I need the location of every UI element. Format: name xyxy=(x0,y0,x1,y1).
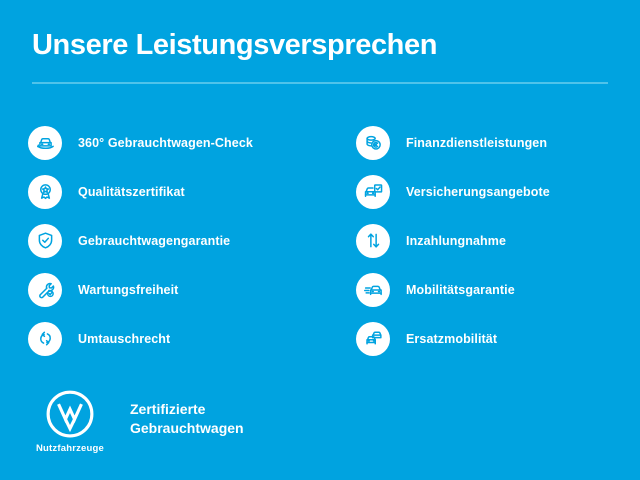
coins-euro-icon xyxy=(356,126,390,160)
feature-label: Ersatzmobilität xyxy=(406,332,497,346)
feature-item[interactable]: Finanzdienstleistungen xyxy=(356,118,640,167)
vw-logo-icon xyxy=(45,389,95,439)
feature-label: Mobilitätsgarantie xyxy=(406,283,515,297)
exchange-arrows-icon xyxy=(28,322,62,356)
feature-label: Wartungsfreiheit xyxy=(78,283,178,297)
features-grid: 360° Gebrauchtwagen-Check Qualitätszerti… xyxy=(0,118,640,363)
car-360-check-icon xyxy=(28,126,62,160)
title-divider xyxy=(32,82,608,84)
footer-headline-line1: Zertifizierte xyxy=(130,400,244,419)
shield-check-icon xyxy=(28,224,62,258)
footer: Nutzfahrzeuge Zertifizierte Gebrauchtwag… xyxy=(32,389,244,454)
vw-brand-block: Nutzfahrzeuge xyxy=(32,389,108,454)
wrench-check-icon xyxy=(28,273,62,307)
feature-item[interactable]: Gebrauchtwagengarantie xyxy=(28,216,320,265)
award-rosette-icon xyxy=(28,175,62,209)
slide-root: Unsere Leistungsversprechen 360° Gebrauc… xyxy=(0,0,640,480)
arrows-up-down-icon xyxy=(356,224,390,258)
header: Unsere Leistungsversprechen xyxy=(32,30,608,84)
feature-item[interactable]: Inzahlungnahme xyxy=(356,216,640,265)
feature-item[interactable]: Qualitätszertifikat xyxy=(28,167,320,216)
feature-label: Versicherungsangebote xyxy=(406,185,550,199)
feature-item[interactable]: Ersatzmobilität xyxy=(356,314,640,363)
feature-item[interactable]: 360° Gebrauchtwagen-Check xyxy=(28,118,320,167)
feature-item[interactable]: Wartungsfreiheit xyxy=(28,265,320,314)
features-right-column: Finanzdienstleistungen Versicherungsange… xyxy=(320,118,640,363)
feature-item[interactable]: Mobilitätsgarantie xyxy=(356,265,640,314)
feature-label: Qualitätszertifikat xyxy=(78,185,185,199)
feature-item[interactable]: Versicherungsangebote xyxy=(356,167,640,216)
feature-label: Inzahlungnahme xyxy=(406,234,506,248)
features-left-column: 360° Gebrauchtwagen-Check Qualitätszerti… xyxy=(0,118,320,363)
two-cars-icon xyxy=(356,322,390,356)
vw-subbrand-label: Nutzfahrzeuge xyxy=(36,443,104,454)
car-motion-icon xyxy=(356,273,390,307)
footer-headline-line2: Gebrauchtwagen xyxy=(130,419,244,438)
car-document-check-icon xyxy=(356,175,390,209)
page-title: Unsere Leistungsversprechen xyxy=(32,30,608,62)
feature-label: Umtauschrecht xyxy=(78,332,170,346)
feature-label: Gebrauchtwagengarantie xyxy=(78,234,230,248)
feature-label: 360° Gebrauchtwagen-Check xyxy=(78,136,253,150)
footer-headline: Zertifizierte Gebrauchtwagen xyxy=(130,400,244,438)
feature-item[interactable]: Umtauschrecht xyxy=(28,314,320,363)
feature-label: Finanzdienstleistungen xyxy=(406,136,547,150)
